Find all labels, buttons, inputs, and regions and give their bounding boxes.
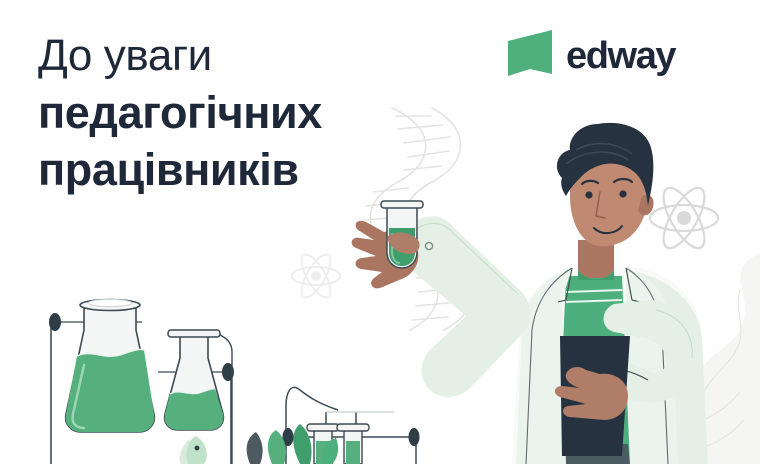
headline-line-3: працівників (38, 141, 458, 198)
headline-line-1: До уваги (38, 28, 458, 84)
page-title: До уваги педагогічних працівників (38, 28, 458, 198)
eye-right (619, 190, 626, 197)
hand-holding-test-tube (352, 201, 423, 288)
logo-wordmark: edway (566, 36, 675, 76)
eye-left (585, 191, 592, 198)
edway-logo[interactable]: edway (506, 30, 675, 82)
headline-line-2: педагогічних (38, 84, 458, 141)
green-flag-mark-icon (506, 30, 554, 82)
edway-announcement-banner: До уваги педагогічних працівників edway (0, 0, 760, 464)
